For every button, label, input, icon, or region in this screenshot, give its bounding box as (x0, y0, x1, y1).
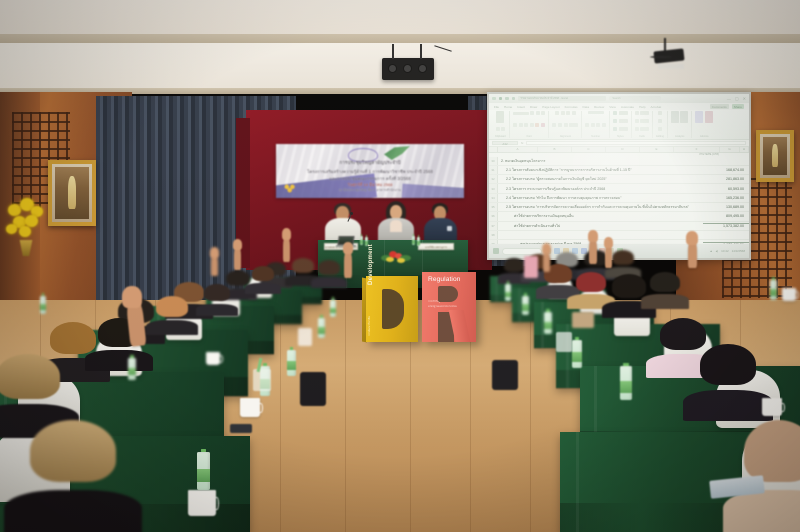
start-icon[interactable] (493, 248, 499, 254)
increase-font-icon[interactable] (536, 111, 540, 115)
conditional-formatting-label[interactable] (619, 111, 628, 115)
paper-tumbler (298, 328, 312, 346)
row-header[interactable]: 30 (489, 157, 498, 165)
audience-member (156, 296, 188, 330)
portrait-canvas-right (763, 137, 787, 175)
amount-column-header: จำนวนเงิน (บาท) (679, 153, 739, 157)
royal-portrait-left (48, 160, 96, 226)
ribbon-group-addins[interactable]: Add-ins (692, 111, 716, 138)
audience-member (204, 284, 230, 312)
table-row[interactable]: 35 2.5 โครงการอบรม "การบริหารจัดการความเ… (489, 203, 749, 212)
ceiling (0, 0, 800, 34)
column-header-G[interactable]: G (720, 147, 740, 152)
group-label-cells: Cells (639, 135, 645, 138)
name-placard: นายวิชัย เลขานุการ (418, 243, 454, 250)
column-header-F[interactable]: F (674, 147, 720, 152)
insert-cells-icon[interactable] (635, 111, 639, 115)
tab-insert[interactable]: Insert (517, 105, 525, 109)
glass-tumbler (253, 369, 271, 391)
save-icon[interactable] (499, 97, 503, 101)
number-format-select[interactable] (588, 111, 604, 114)
wrap-text-icon[interactable] (572, 111, 576, 115)
water-bottle (360, 236, 363, 245)
speaker-head (390, 205, 402, 219)
placard-name: นายวิชัย เลขานุการ (419, 244, 453, 251)
table-row[interactable]: 36 ค่าใช้จ่ายการบริหารงานเงินอุดหนุนอื่น… (489, 212, 749, 221)
portrait-figure-left (68, 176, 76, 208)
formula-bar-row[interactable]: A32 fx (489, 140, 749, 147)
raised-arm (344, 250, 352, 278)
comma-icon[interactable] (596, 123, 600, 127)
excel-ribbon[interactable]: Clipboard Font Alignment Number (489, 110, 749, 140)
microphone-head (350, 212, 353, 215)
dr-letter-display: Development การพัฒนาวิชาชีพ Regulation ก… (366, 272, 476, 344)
tab-acrobat[interactable]: Acrobat (651, 105, 662, 109)
row-header[interactable]: 32 (489, 175, 498, 183)
group-label-analysis: Analysis (675, 135, 684, 138)
flower-bloom (19, 226, 31, 237)
audience-member (252, 266, 274, 290)
column-header-B[interactable]: B (538, 147, 572, 152)
copy-icon[interactable] (501, 127, 505, 131)
table-row[interactable]: 34 2.4 โครงการอบรม "ทำไม ถึงการพัฒนา การ… (489, 194, 749, 203)
mobile-phone (230, 424, 252, 433)
projector-mount-rod (420, 44, 422, 59)
align-top-icon[interactable] (555, 111, 559, 115)
audience-member (0, 354, 60, 426)
fill-color-icon[interactable] (535, 123, 539, 127)
table-row[interactable]: 30 2. หมวดเงินอุดหนุนโครงการ (489, 157, 749, 166)
comments-button[interactable]: Comments (710, 104, 729, 109)
audience-member (650, 272, 680, 304)
align-right-icon[interactable] (564, 123, 568, 127)
cell-description[interactable]: 2.4 โครงการอบรม "ทำไม ถึงการพัฒนา การควบ… (498, 195, 703, 201)
water-bottle (572, 340, 582, 368)
portrait-canvas-left (55, 167, 89, 219)
row-header[interactable]: 33 (489, 184, 498, 192)
cell-amount[interactable]: 60,593.00 (703, 187, 749, 191)
underline-icon[interactable] (524, 123, 528, 127)
handbag (572, 312, 594, 328)
ceiling-projector-rear (650, 38, 690, 72)
close-icon[interactable]: ✕ (743, 96, 746, 101)
insert-cells-label[interactable] (640, 111, 649, 115)
flower-arrangement (4, 196, 50, 254)
raised-hand (210, 247, 219, 258)
bold-icon[interactable] (513, 123, 517, 127)
delete-cells-label[interactable] (640, 119, 649, 123)
tab-help[interactable]: Help (639, 105, 645, 109)
projector-cable (650, 56, 672, 58)
table-row[interactable]: 33 2.3 โครงการ กระบวนการเรียนรู้และพัฒนา… (489, 184, 749, 193)
cell-amount[interactable]: 165,236.00 (703, 196, 749, 200)
raised-hand (122, 286, 142, 308)
glass-tumbler (556, 332, 572, 352)
maximize-icon[interactable]: ▢ (735, 96, 739, 101)
align-middle-icon[interactable] (561, 111, 565, 115)
column-header-E[interactable]: E (640, 147, 674, 152)
group-label-number: Number (591, 135, 600, 138)
column-header-A[interactable]: A (498, 147, 538, 152)
audience-member (700, 344, 756, 410)
raised-hand (233, 239, 242, 250)
water-bottle (318, 318, 325, 338)
group-label-font: Font (527, 135, 532, 138)
banner-line-3: และการประชุมคณะกรรมการ ครั้งที่ 3/2568 (276, 175, 464, 182)
water-bottle (544, 312, 552, 334)
group-label-alignment: Alignment (560, 135, 571, 138)
projector-ceiling-plate (658, 64, 684, 69)
ribbon-group-styles[interactable]: Styles (610, 111, 632, 138)
addins-icon[interactable] (705, 111, 713, 123)
water-bottle (770, 280, 777, 300)
flower-yellow (386, 257, 394, 262)
row-header[interactable]: 36 (489, 212, 498, 220)
column-header-H[interactable]: H (740, 147, 749, 152)
excel-icon (492, 97, 496, 101)
column-header-C[interactable]: C (572, 147, 606, 152)
formula-input[interactable] (526, 141, 746, 146)
water-bottle (197, 452, 210, 490)
cell-description[interactable]: 2. หมวดเงินอุดหนุนโครงการ (498, 158, 703, 164)
currency-icon[interactable] (585, 123, 589, 127)
tab-home[interactable]: Home (504, 105, 512, 109)
italic-icon[interactable] (519, 123, 523, 127)
group-label-styles: Styles (617, 135, 624, 138)
banner-line-1: การประชุมใหญ่สามัญประจำปี (276, 160, 464, 167)
ribbon-group-font[interactable]: Font (510, 111, 550, 138)
format-as-table-icon[interactable] (613, 119, 617, 123)
audience-member (30, 420, 116, 520)
audience-member (744, 420, 800, 520)
row-header[interactable]: 35 (489, 203, 498, 211)
insert-function-icon[interactable]: fx (521, 141, 523, 145)
group-label-editing: Editing (656, 135, 664, 138)
excel-search-box[interactable]: Search (609, 96, 661, 101)
raised-hand (282, 228, 291, 240)
table-flower-centerpiece (381, 250, 411, 263)
window-title: รายงานงบประมาณประจำปี 2568 - Excel (518, 96, 606, 101)
coffee-cup (188, 490, 216, 516)
projector-lens (418, 64, 427, 73)
coffee-cup (782, 288, 796, 301)
flower-yellow (397, 258, 405, 263)
royal-portrait-right (756, 130, 794, 182)
projector-mount-rod (392, 44, 394, 59)
percent-icon[interactable] (591, 123, 595, 127)
cell-amount[interactable]: 1,573,382.00 (703, 223, 749, 228)
tab-formulas[interactable]: Formulas (565, 105, 578, 109)
volume-icon[interactable]: ◂) (716, 249, 719, 253)
delete-cells-icon[interactable] (635, 119, 639, 123)
group-label-clipboard: Clipboard (495, 135, 506, 138)
flower-bloom (6, 224, 17, 234)
water-bottle (40, 296, 46, 314)
water-bottle (620, 366, 632, 400)
excel-projection: รายงานงบประมาณประจำปี 2568 - Excel Searc… (489, 94, 749, 258)
water-bottle (330, 300, 336, 317)
projector-lens (388, 64, 397, 73)
letter-r-sublabel: การกำกับดูแล (428, 300, 443, 303)
excel-title-bar: รายงานงบประมาณประจำปี 2568 - Excel Searc… (489, 94, 749, 103)
cut-icon[interactable] (496, 127, 500, 131)
group-label-addins: Add-ins (700, 135, 708, 138)
redo-icon[interactable] (512, 97, 516, 101)
water-bottle (505, 284, 511, 301)
font-color-icon[interactable] (541, 123, 545, 127)
taskbar-date[interactable]: 14/3/2568 (732, 249, 745, 253)
tab-data[interactable]: Data (583, 105, 590, 109)
align-center-icon[interactable] (558, 123, 562, 127)
conditional-formatting-icon[interactable] (613, 111, 617, 115)
backpack (300, 372, 326, 406)
row-header[interactable]: 31 (489, 166, 498, 174)
table-row[interactable]: 38 (489, 231, 749, 240)
water-bottle (412, 236, 415, 245)
cell-amount[interactable]: 168,674.00 (703, 168, 749, 172)
share-button[interactable]: Share (732, 104, 744, 109)
raised-hand (343, 242, 353, 254)
cell-styles-icon[interactable] (613, 127, 617, 131)
row-header[interactable]: 37 (489, 222, 498, 230)
system-tray[interactable]: ▲ ◂) 10:42 14/3/2568 (710, 249, 745, 253)
conference-hall-photo: รายงานงบประมาณประจำปี 2568 - Excel Searc… (0, 0, 800, 532)
coffee-cup (206, 352, 220, 365)
format-cells-icon[interactable] (635, 127, 639, 131)
font-size-select[interactable] (530, 111, 534, 115)
minimize-icon[interactable]: — (727, 96, 731, 101)
autosum-icon[interactable] (658, 111, 662, 115)
undo-icon[interactable] (505, 97, 509, 101)
letter-r-label: Regulation (428, 276, 461, 283)
event-banner: การประชุมใหญ่สามัญประจำปี โครงการเสริมสร… (276, 144, 464, 198)
clear-icon[interactable] (658, 127, 662, 131)
share-area[interactable]: Comments Share (710, 104, 744, 109)
water-bottle (417, 237, 420, 246)
table-row[interactable]: 31 2.1 โครงการสัมมนาเชิงปฏิบัติการ "การบ… (489, 166, 749, 175)
letter-d-label: Development (368, 244, 374, 285)
coffee-cup (762, 398, 782, 416)
raised-hand (542, 243, 551, 254)
align-bottom-icon[interactable] (566, 111, 570, 115)
format-cells-label[interactable] (640, 127, 649, 131)
tab-draw[interactable]: Draw (530, 105, 537, 109)
letter-d-sublabel: การพัฒนาวิชาชีพ (368, 316, 372, 336)
projector-lens (403, 64, 412, 73)
audience-member (318, 260, 340, 284)
window-controls[interactable]: — ▢ ✕ (727, 96, 746, 101)
merge-cells-icon[interactable] (569, 123, 578, 127)
projection-screen: รายงานงบประมาณประจำปี 2568 - Excel Searc… (487, 92, 751, 260)
cell-description[interactable]: 2.1 โครงการสัมมนาเชิงปฏิบัติการ "การบูรณ… (498, 167, 703, 173)
spreadsheet-grid[interactable]: จำนวนเงิน (บาท) 30 2. หมวดเงินอุดหนุนโคร… (489, 153, 749, 244)
ribbon-group-number[interactable]: Number (582, 111, 610, 138)
find-select-icon[interactable] (680, 111, 688, 123)
ribbon-group-editing[interactable]: Editing (653, 111, 668, 138)
speaker-blouse (390, 220, 402, 232)
audience-member (612, 250, 634, 274)
tab-automate[interactable]: Automate (621, 105, 634, 109)
decimal-icon[interactable] (602, 123, 606, 127)
tab-file[interactable]: File (494, 105, 499, 109)
tab-view[interactable]: View (609, 105, 616, 109)
fill-icon[interactable] (658, 119, 662, 123)
decrease-font-icon[interactable] (541, 111, 545, 115)
cell-description[interactable]: 2.3 โครงการ กระบวนการเรียนรู้และพัฒนาองค… (498, 186, 703, 192)
ribbon-group-alignment[interactable]: Alignment (549, 111, 582, 138)
raised-hand (686, 231, 698, 245)
flower-bloom (8, 204, 21, 216)
table-row[interactable]: 32 2.2 โครงการอบรม "ผู้ตรวจสอบภายในการเง… (489, 175, 749, 184)
network-icon[interactable]: ▲ (710, 249, 713, 253)
raised-hand (604, 237, 613, 248)
cell-amount[interactable]: 281,863.00 (703, 177, 749, 181)
border-icon[interactable] (530, 123, 534, 127)
tab-review[interactable]: Review (594, 105, 604, 109)
sort-filter-icon[interactable] (671, 111, 679, 123)
excel-ribbon-tabs[interactable]: File Home Insert Draw Page Layout Formul… (489, 103, 749, 110)
align-left-icon[interactable] (552, 123, 556, 127)
water-bottle (128, 358, 136, 380)
tab-page-layout[interactable]: Page Layout (542, 105, 559, 109)
banner-line-5: ณ ห้องประชุมใหญ่ ชั้น 2 อาคารสำนักงาน (276, 188, 464, 193)
water-bottle (522, 296, 529, 315)
taskbar-clock[interactable]: 10:42 (721, 249, 729, 253)
row-header[interactable]: 34 (489, 194, 498, 202)
raised-hand (588, 230, 598, 242)
backpack (492, 360, 518, 390)
flower-vase (16, 240, 36, 256)
pink-signboard (524, 256, 538, 278)
analyze-data-icon[interactable] (695, 111, 703, 123)
paste-icon[interactable] (496, 111, 504, 123)
cell-amount[interactable]: 130,689.00 (703, 205, 749, 209)
coffee-cup (240, 398, 260, 417)
ribbon-group-clipboard[interactable]: Clipboard (492, 111, 510, 138)
select-all-corner[interactable] (489, 147, 498, 152)
cell-description[interactable]: ค่าใช้จ่ายการบริหารงานเงินอุดหนุนอื่น (498, 213, 703, 219)
ribbon-group-cells[interactable]: Cells (632, 111, 654, 138)
ceiling-projector-front (382, 58, 434, 80)
cell-description[interactable]: 2.5 โครงการอบรม "การบริหารจัดการความเสี่… (498, 204, 703, 210)
ribbon-group-sortfilter[interactable]: Analysis (668, 111, 693, 138)
banner-line-2: โครงการเสริมสร้างความรู้ด้านที่ 1 การพัฒ… (276, 168, 464, 175)
name-box[interactable]: A32 (492, 141, 518, 146)
flower-bloom (25, 215, 38, 227)
letter-d-development: Development การพัฒนาวิชาชีพ (366, 276, 418, 342)
portrait-figure-right (772, 144, 778, 168)
format-as-table-label[interactable] (619, 119, 628, 123)
letter-r-regulation: Regulation การกำกับดูแล มาตรฐานและจรรยาบ… (422, 272, 476, 342)
table-row[interactable]: 37 ค่าใช้จ่ายการดำเนินงานทั่วไป 1,573,38… (489, 222, 749, 231)
row-header[interactable]: 38 (489, 231, 498, 239)
audience-member (292, 258, 314, 282)
audience-member (576, 272, 606, 304)
cell-amount[interactable]: 809,495.00 (703, 214, 749, 218)
water-bottle (287, 350, 296, 376)
font-family-select[interactable] (513, 112, 529, 115)
cell-styles-label[interactable] (619, 127, 628, 131)
cell-description[interactable]: ค่าใช้จ่ายการดำเนินงานทั่วไป (498, 223, 703, 229)
cell-description[interactable]: 2.2 โครงการอบรม "ผู้ตรวจสอบภายในการเงินบ… (498, 176, 703, 182)
column-header-D[interactable]: D (606, 147, 640, 152)
letter-r-sublabel2: มาตรฐานและจรรยาบรรณ (428, 305, 457, 308)
uniform-badge (447, 226, 452, 231)
